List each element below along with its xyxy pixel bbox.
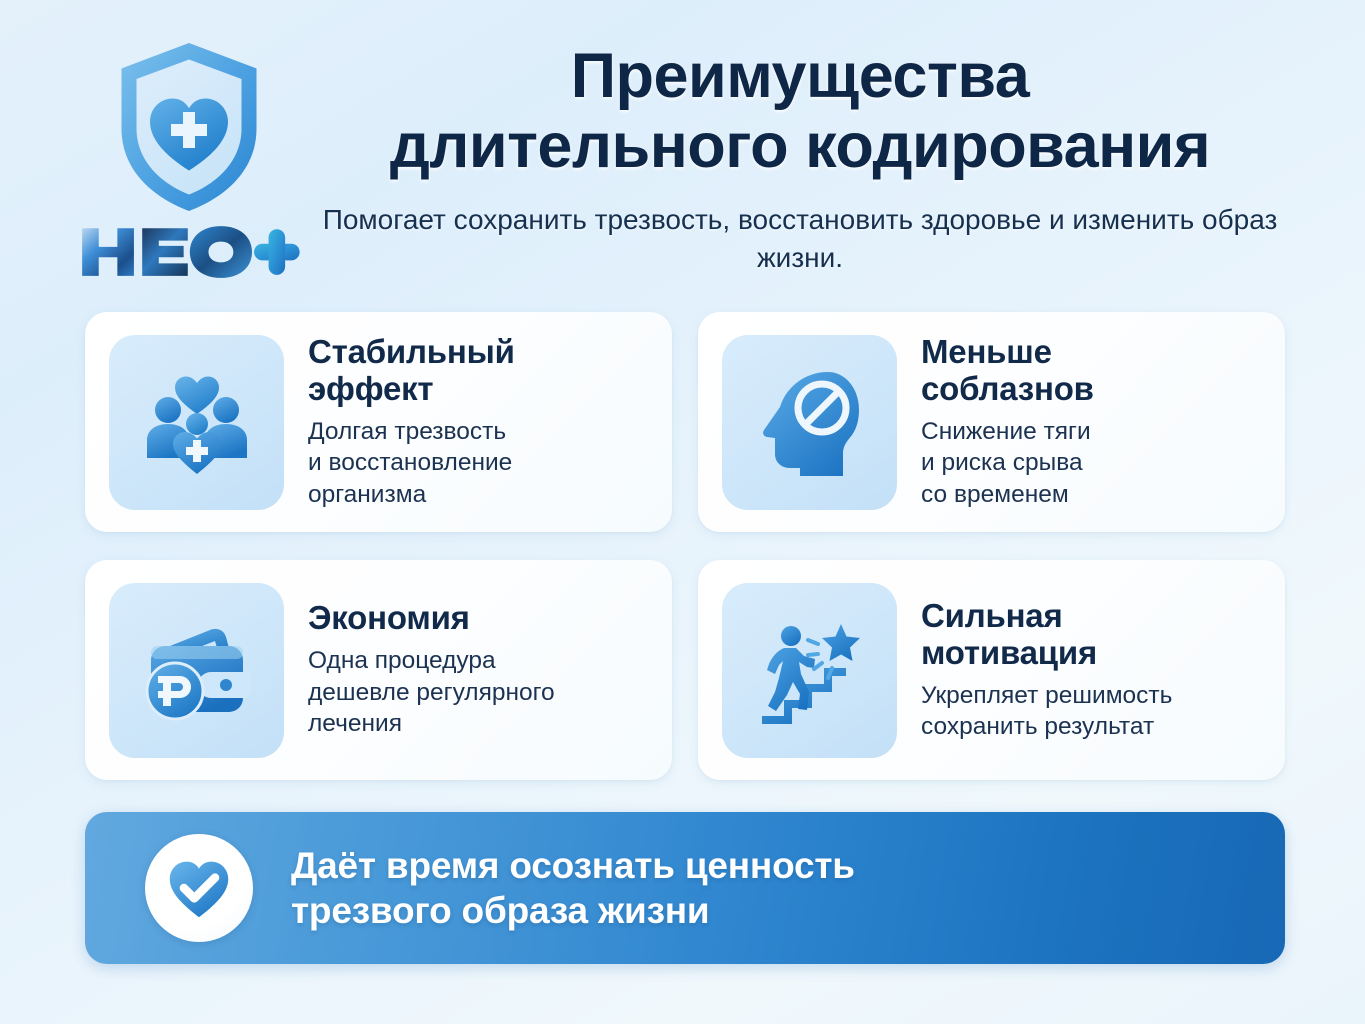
- card-description: Снижение тяги и риска срыва со временем: [921, 416, 1263, 510]
- card-title: Экономия: [308, 600, 650, 637]
- footer-banner: Даёт время осознать ценность трезвого об…: [85, 812, 1285, 964]
- card-title: Сильная мотивация: [921, 598, 1263, 672]
- page-title-line-1: Преимущества: [300, 44, 1300, 108]
- icon-tile: [722, 583, 897, 758]
- infographic-poster: Преимущества длительного кодирования Пом…: [0, 0, 1365, 1024]
- banner-badge: [145, 834, 253, 942]
- benefit-card: Меньше соблазнов Снижение тяги и риска с…: [698, 312, 1285, 532]
- benefit-card: Стабильный эффект Долгая трезвость и вос…: [85, 312, 672, 532]
- card-text: Экономия Одна процедура дешевле регулярн…: [308, 600, 650, 739]
- banner-text: Даёт время осознать ценность трезвого об…: [291, 843, 855, 933]
- card-text: Стабильный эффект Долгая трезвость и вос…: [308, 334, 650, 510]
- icon-tile: [109, 335, 284, 510]
- card-description: Укрепляет решимость сохранить результат: [921, 680, 1263, 743]
- page-title-line-2: длительного кодирования: [300, 114, 1300, 178]
- page-subtitle: Помогает сохранить трезвость, восстанови…: [300, 201, 1300, 278]
- icon-tile: [722, 335, 897, 510]
- header-text-block: Преимущества длительного кодирования Пом…: [300, 44, 1300, 278]
- card-description: Одна процедура дешевле регулярного лечен…: [308, 645, 650, 739]
- family-heart-plus-icon: [133, 358, 261, 486]
- card-title: Меньше соблазнов: [921, 334, 1263, 408]
- card-description: Долгая трезвость и восстановление органи…: [308, 416, 650, 510]
- wallet-ruble-icon: [133, 606, 261, 734]
- heart-check-circle-icon: [166, 855, 232, 921]
- head-prohibition-icon: [746, 358, 874, 486]
- icon-tile: [109, 583, 284, 758]
- card-text: Меньше соблазнов Снижение тяги и риска с…: [921, 334, 1263, 510]
- card-text: Сильная мотивация Укрепляет решимость со…: [921, 598, 1263, 743]
- benefit-card: Сильная мотивация Укрепляет решимость со…: [698, 560, 1285, 780]
- benefit-card-grid: Стабильный эффект Долгая трезвость и вос…: [85, 312, 1285, 780]
- brand-wordmark-neo-plus: [78, 222, 301, 280]
- card-title: Стабильный эффект: [308, 334, 650, 408]
- shield-heart-plus-icon: [114, 38, 264, 216]
- brand-block: [74, 38, 304, 288]
- person-stairs-star-icon: [746, 606, 874, 734]
- benefit-card: Экономия Одна процедура дешевле регулярн…: [85, 560, 672, 780]
- header: Преимущества длительного кодирования Пом…: [0, 0, 1365, 300]
